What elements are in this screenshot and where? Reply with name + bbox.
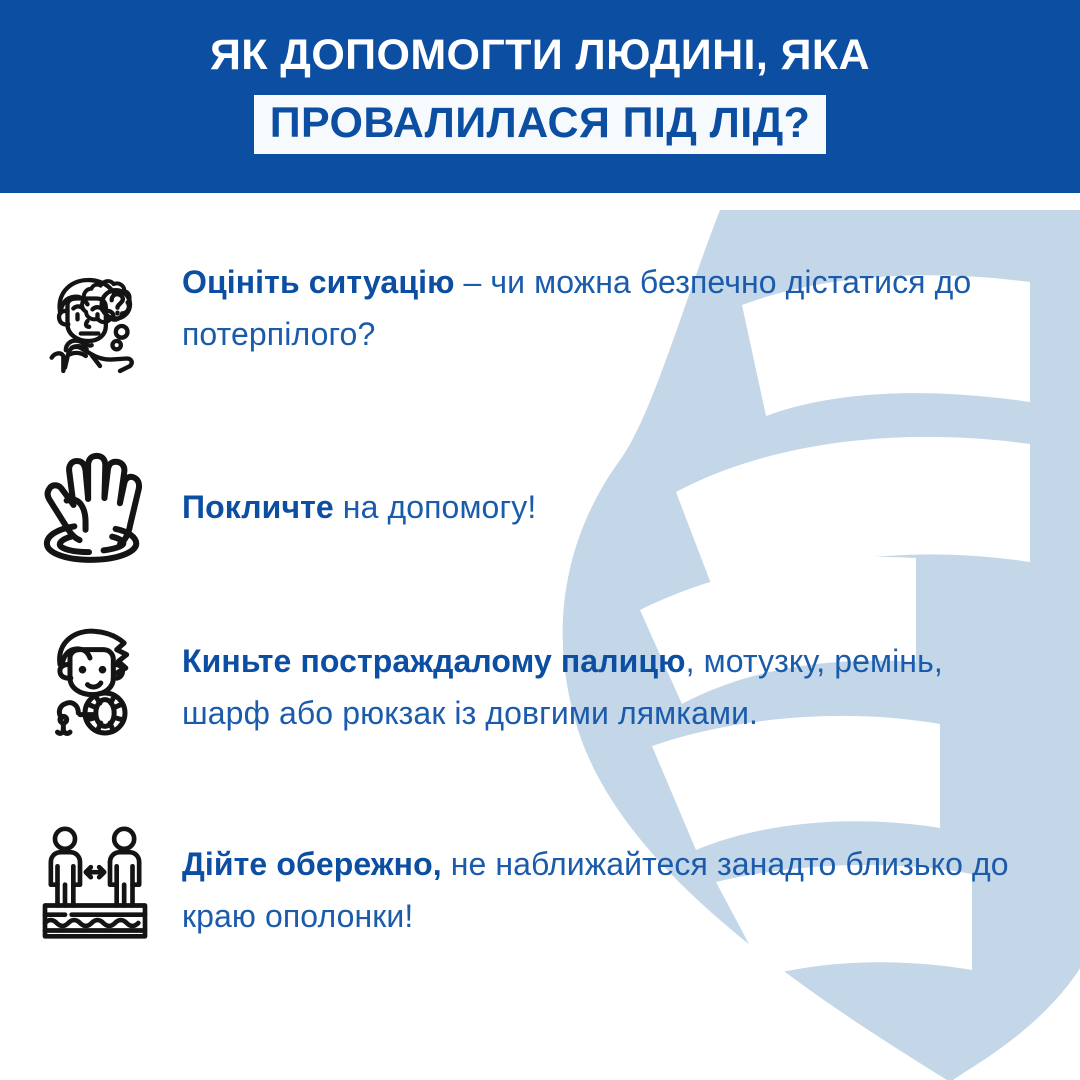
list-item: Дійте обережно, не наближайтеся занадто … [0, 813, 1080, 953]
header-banner: ЯК ДОПОМОГТИ ЛЮДИНІ, ЯКА ПРОВАЛИЛАСЯ ПІД… [0, 0, 1080, 193]
header-title-line-2: ПРОВАЛИЛАСЯ ПІД ЛІД? [270, 101, 811, 146]
two-people-distance-on-ice-icon [40, 813, 150, 953]
tip-icon-slot [0, 610, 150, 746]
poster-root: ЯК ДОПОМОГТИ ЛЮДИНІ, ЯКА ПРОВАЛИЛАСЯ ПІД… [0, 0, 1080, 1080]
list-item: Оцініть ситуацію – чи можна безпечно діс… [0, 255, 1080, 387]
tip-text-bold: Дійте обережно, [182, 846, 442, 882]
tip-text: Покличте на допомогу! [182, 440, 1022, 534]
tip-icon-slot [0, 813, 150, 953]
tips-list: Оцініть ситуацію – чи можна безпечно діс… [0, 193, 1080, 1080]
tip-icon-slot [0, 255, 150, 387]
tip-text: Оцініть ситуацію – чи можна безпечно діс… [182, 255, 1022, 361]
tip-text-bold: Покличте [182, 489, 334, 525]
tip-text-bold: Оцініть ситуацію [182, 264, 455, 300]
tip-text: Киньте постраждалому палицю, мотузку, ре… [182, 610, 1022, 740]
tip-text-rest: на допомогу! [334, 489, 537, 525]
hand-in-water-icon [40, 440, 150, 568]
list-item: Киньте постраждалому палицю, мотузку, ре… [0, 610, 1080, 746]
thinking-person-icon [40, 255, 150, 387]
tip-text: Дійте обережно, не наближайтеся занадто … [182, 813, 1022, 943]
tip-text-bold: Киньте постраждалому палицю [182, 643, 686, 679]
tip-icon-slot [0, 440, 150, 568]
header-title-line-1: ЯК ДОПОМОГТИ ЛЮДИНІ, ЯКА [210, 33, 870, 78]
header-title-highlight-box: ПРОВАЛИЛАСЯ ПІД ЛІД? [254, 95, 827, 154]
person-with-lifebuoy-icon [40, 610, 150, 746]
list-item: Покличте на допомогу! [0, 440, 1080, 568]
